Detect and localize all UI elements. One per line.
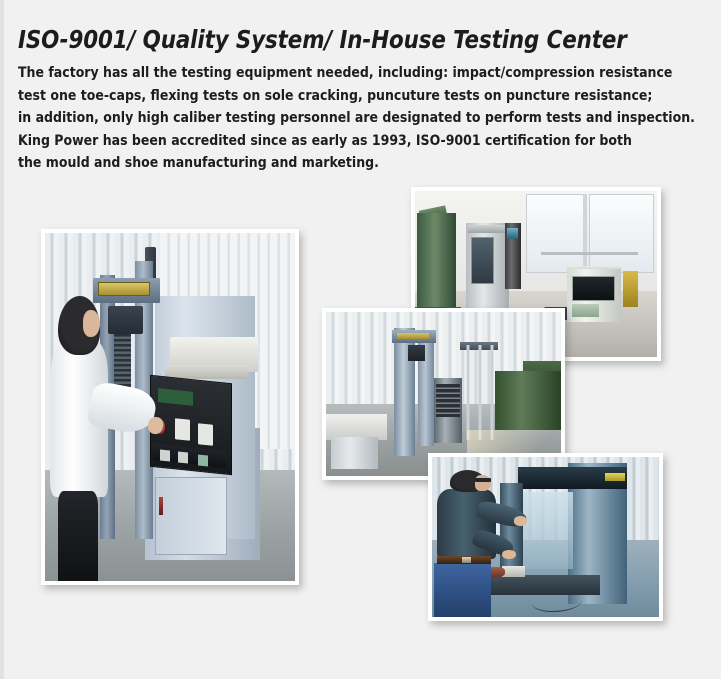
- testing-machine-nameplate: [397, 333, 430, 339]
- body-paragraph: The factory has all the testing equipmen…: [18, 62, 677, 174]
- green-equipment: [495, 371, 561, 430]
- photo-universal-testing-machine: [41, 229, 299, 585]
- page-title: ISO-9001/ Quality System/ In-House Testi…: [18, 26, 687, 53]
- photo-testing-lab-machines-image: [326, 312, 561, 476]
- body-line-3: in addition, only high caliber testing p…: [18, 107, 677, 129]
- operator-face: [475, 475, 491, 491]
- wall-rail: [541, 252, 638, 254]
- specimen-grip: [108, 306, 143, 334]
- panel-gauge-left: [175, 418, 190, 440]
- chamber-control-screen: [507, 228, 518, 240]
- operator-glasses: [475, 478, 491, 482]
- photo-operator-compression-test-image: [432, 457, 659, 617]
- operator-upper-hand: [514, 516, 528, 526]
- chamber-door-window: [471, 237, 495, 284]
- lab-window-left: [526, 194, 586, 272]
- machine-nameplate: [98, 282, 150, 296]
- machine-yellow-label: [605, 473, 625, 481]
- panel-button-c: [198, 454, 208, 466]
- lab-window-right: [589, 194, 654, 272]
- testing-machine-grip: [408, 345, 424, 361]
- tensile-frame-rods: [462, 345, 495, 440]
- body-line-4: King Power has been accredited since as …: [18, 130, 677, 152]
- operator-belt-buckle: [462, 557, 471, 563]
- operator-jeans: [434, 563, 491, 617]
- body-line-5: the mould and shoe manufacturing and mar…: [18, 152, 677, 174]
- panel-button-b: [178, 452, 188, 464]
- technician-face: [83, 310, 101, 338]
- window-mullion: [583, 194, 587, 270]
- chamber-top-panel: [468, 225, 504, 233]
- cabinet-door-handle: [159, 497, 163, 514]
- page-left-edge-strip: [0, 0, 4, 679]
- document-page: ISO-9001/ Quality System/ In-House Testi…: [0, 0, 721, 679]
- body-line-1: The factory has all the testing equipmen…: [18, 62, 677, 84]
- body-line-2: test one toe-caps, flexing tests on sole…: [18, 85, 677, 107]
- photo-universal-testing-machine-image: [45, 233, 295, 581]
- machine-safety-screen: [523, 492, 573, 569]
- photo-operator-compression-test: [428, 453, 663, 621]
- green-machine: [417, 213, 456, 316]
- panel-button-a: [160, 449, 170, 461]
- test-cabinet-window: [572, 276, 615, 301]
- panel-gauge-right: [198, 424, 213, 446]
- yellow-cabinet: [623, 271, 638, 308]
- text-block: ISO-9001/ Quality System/ In-House Testi…: [18, 26, 708, 174]
- technician-trousers: [58, 491, 98, 581]
- test-cabinet-grill: [572, 304, 599, 317]
- cabinet-door: [155, 477, 227, 556]
- work-bench-cabinet: [331, 437, 378, 470]
- test-specimen-fixture: [502, 566, 525, 577]
- control-console-face: [436, 384, 460, 417]
